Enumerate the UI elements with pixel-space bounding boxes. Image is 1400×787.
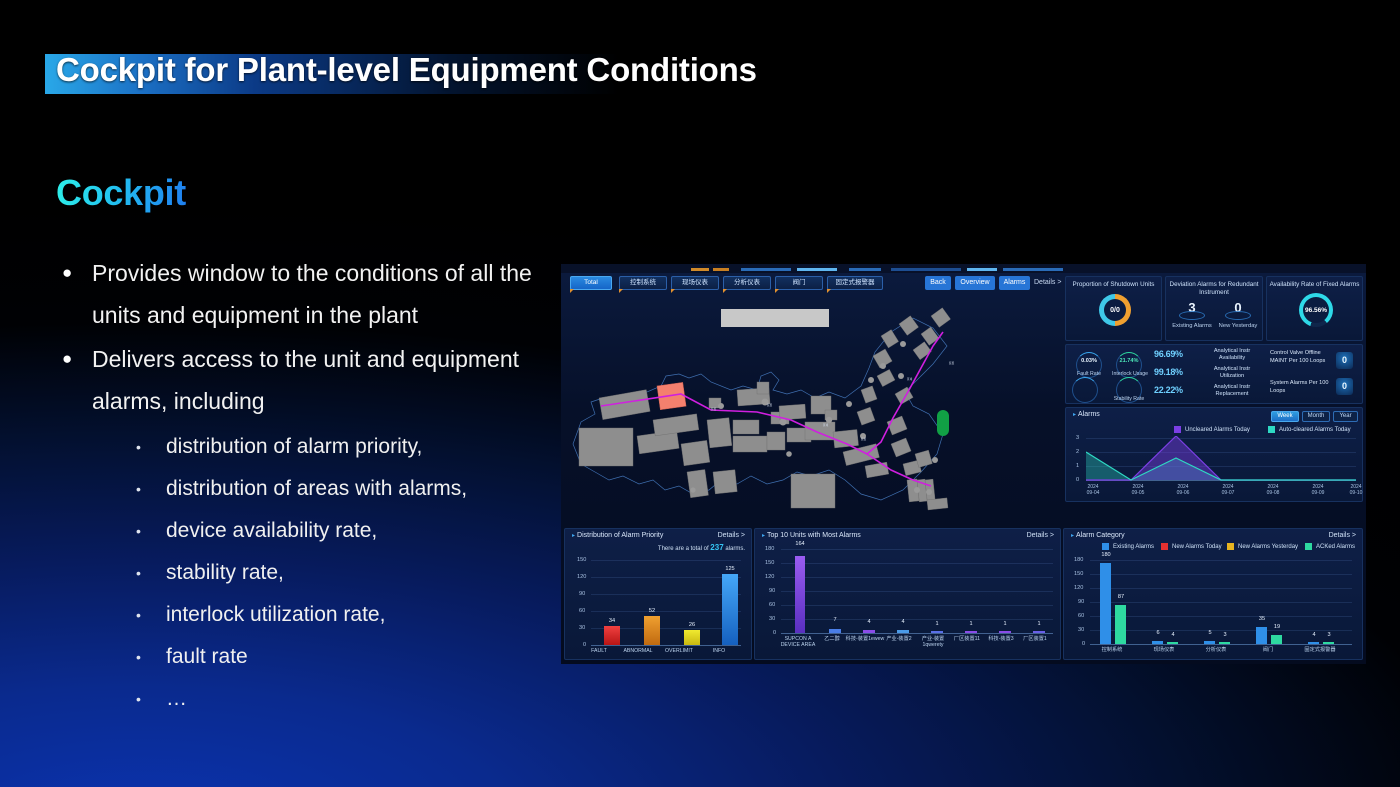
sub-bullet-text: device availability rate, bbox=[166, 510, 377, 552]
x-tick: 202409-07 bbox=[1209, 484, 1247, 496]
bullet-dot-icon: ● bbox=[56, 252, 92, 294]
bar-abnormal bbox=[644, 616, 660, 645]
alarms-trend-linechart bbox=[1086, 436, 1358, 482]
y-tick: 0 bbox=[1076, 477, 1079, 483]
analytical-replacement-value: 22.22% bbox=[1154, 385, 1183, 395]
bar-value: 34 bbox=[600, 618, 624, 624]
tab-label: 固定式报警器 bbox=[836, 279, 875, 286]
y-tick: 3 bbox=[1076, 435, 1079, 441]
back-button[interactable]: Back bbox=[925, 276, 951, 290]
card-alarms-trend: ▸Alarms Week Month Year Uncleared Alarms… bbox=[1065, 407, 1363, 502]
top-units-title: ▸Top 10 Units with Most Alarms bbox=[762, 532, 861, 539]
x-category: 现场仪表 bbox=[1144, 647, 1184, 653]
x-category: 控制系统 bbox=[1092, 647, 1132, 653]
slide-canvas: Cockpit for Plant-level Equipment Condit… bbox=[0, 0, 1400, 787]
legend-label: New Alarms Yesterday bbox=[1238, 544, 1298, 550]
card-deviation-alarms: Deviation Alarms for Redundant Instrumen… bbox=[1165, 276, 1263, 341]
bar-overlimit bbox=[684, 630, 700, 645]
y-tick: 150 bbox=[577, 557, 586, 563]
legend-swatch bbox=[1268, 426, 1275, 433]
tab-corner-icon bbox=[827, 289, 831, 293]
x-tick: 202409-05 bbox=[1119, 484, 1157, 496]
legend-label: New Alarms Today bbox=[1172, 544, 1222, 550]
tab-corner-icon bbox=[671, 289, 675, 293]
x-category: 阀门 bbox=[1248, 647, 1288, 653]
sub-bullet-item: • interlock utilization rate, bbox=[136, 594, 576, 636]
svg-text:区域: 区域 bbox=[823, 423, 829, 427]
top-units-barchart: 164 7 4 4 1 1 1 1 bbox=[781, 549, 1053, 633]
alarm-category-title: ▸Alarm Category bbox=[1071, 532, 1125, 539]
fault-rate-value: 0.03% bbox=[1072, 358, 1106, 364]
y-tick: 90 bbox=[769, 588, 775, 594]
bar-fault bbox=[604, 626, 620, 645]
bar-acked bbox=[1219, 642, 1230, 644]
bar-unit bbox=[999, 631, 1011, 633]
bar-value: 1 bbox=[925, 621, 949, 627]
dashboard-top-strip bbox=[561, 264, 1366, 273]
bar-unit bbox=[795, 556, 805, 633]
analytical-utilization-value: 99.18% bbox=[1154, 367, 1183, 377]
x-tick: 202409-06 bbox=[1164, 484, 1202, 496]
card-fixed-alarm-availability: Availability Rate of Fixed Alarms 96.56% bbox=[1266, 276, 1363, 341]
analytical-availability-label: Analytical Instr Availability bbox=[1202, 348, 1262, 362]
alarm-priority-title: ▸Distribution of Alarm Priority bbox=[572, 532, 663, 539]
card-alarm-category: ▸Alarm Category Details > Existing Alarm… bbox=[1063, 528, 1363, 660]
tab-corner-icon bbox=[570, 289, 574, 293]
bar-value: 164 bbox=[787, 541, 813, 547]
overview-button[interactable]: Overview bbox=[955, 276, 995, 290]
tab-field-instrument[interactable]: 现场仪表 bbox=[671, 276, 719, 290]
map-buildings bbox=[579, 308, 951, 510]
map-green-tank bbox=[937, 410, 949, 436]
legend-new-yesterday: New Alarms Yesterday bbox=[1227, 543, 1298, 550]
gauge-ring-icon bbox=[1072, 377, 1098, 403]
x-category: 分析仪表 bbox=[1196, 647, 1236, 653]
interlock-usage-value: 21.74% bbox=[1112, 358, 1146, 364]
tab-valve[interactable]: 阀门 bbox=[775, 276, 823, 290]
tab-corner-icon bbox=[723, 289, 727, 293]
bar-value: 1 bbox=[959, 621, 983, 627]
y-tick: 60 bbox=[769, 602, 775, 608]
bullet-dot-icon: ● bbox=[56, 338, 92, 380]
caret-icon: ▸ bbox=[572, 533, 575, 539]
bar-value: 26 bbox=[680, 622, 704, 628]
gauge-stability-rate: Stability Rate bbox=[1112, 373, 1146, 407]
svg-text:装置: 装置 bbox=[711, 407, 717, 411]
bar-value: 125 bbox=[718, 566, 742, 572]
shutdown-donut-chart: 0/0 bbox=[1099, 294, 1131, 326]
y-tick: 120 bbox=[577, 574, 586, 580]
line-autocleared bbox=[1086, 452, 1356, 480]
bullet-text: Delivers access to the unit and equipmen… bbox=[92, 338, 572, 422]
legend-swatch bbox=[1174, 426, 1181, 433]
x-category: 厂区装置1 bbox=[1015, 636, 1055, 642]
alarm-category-barchart: 180 87 6 4 5 3 35 19 4 3 bbox=[1090, 560, 1352, 644]
bar-unit bbox=[931, 631, 943, 633]
bar-value: 1 bbox=[1027, 621, 1051, 627]
range-month-button[interactable]: Month bbox=[1302, 411, 1330, 422]
y-tick: 120 bbox=[1074, 585, 1083, 591]
bullet-list: ● Provides window to the conditions of a… bbox=[56, 252, 576, 720]
bar-value: 180 bbox=[1095, 552, 1117, 558]
analytical-availability-value: 96.69% bbox=[1154, 349, 1183, 359]
fixed-alarms-value: 96.56% bbox=[1299, 293, 1333, 327]
sub-bullet-dot-icon: • bbox=[136, 552, 166, 594]
deviation-new: 0 New Yesterday bbox=[1215, 301, 1261, 329]
y-tick: 30 bbox=[769, 616, 775, 622]
bar-unit bbox=[897, 630, 909, 633]
tab-label: 控制系统 bbox=[630, 279, 656, 286]
bar-existing bbox=[1204, 641, 1215, 644]
legend-autocleared: Auto-cleared Alarms Today bbox=[1268, 426, 1351, 433]
bar-value: 4 bbox=[1162, 632, 1184, 638]
sub-bullet-item: • distribution of areas with alarms, bbox=[136, 468, 576, 510]
legend-swatch bbox=[1161, 543, 1168, 550]
tab-corner-icon bbox=[775, 289, 779, 293]
sub-bullet-dot-icon: • bbox=[136, 594, 166, 636]
sub-bullet-item: • fault rate bbox=[136, 636, 576, 678]
tab-analytical-instrument[interactable]: 分析仪表 bbox=[723, 276, 771, 290]
analytical-replacement-label: Analytical Instr Replacement bbox=[1202, 384, 1262, 398]
y-tick: 150 bbox=[765, 560, 774, 566]
alarm-priority-barchart: 34 52 26 125 bbox=[591, 560, 743, 645]
bar-value: 1 bbox=[993, 621, 1017, 627]
grid-line-base bbox=[781, 633, 1053, 634]
y-tick: 60 bbox=[579, 608, 585, 614]
fixed-alarms-title: Availability Rate of Fixed Alarms bbox=[1267, 281, 1362, 289]
gauge-auto-control-rate bbox=[1068, 373, 1102, 407]
stat-ring-icon bbox=[1225, 311, 1251, 320]
sub-bullet-dot-icon: • bbox=[136, 510, 166, 552]
svg-text:装置: 装置 bbox=[949, 361, 955, 365]
bullet-item: ● Provides window to the conditions of a… bbox=[56, 252, 576, 336]
slide-title-block: Cockpit for Plant-level Equipment Condit… bbox=[45, 46, 757, 94]
tab-fixed-alarm-device[interactable]: 固定式报警器 bbox=[827, 276, 883, 290]
deviation-title: Deviation Alarms for Redundant Instrumen… bbox=[1166, 281, 1262, 297]
sub-bullet-list: • distribution of alarm priority, • dist… bbox=[56, 426, 576, 720]
sub-bullet-item: • distribution of alarm priority, bbox=[136, 426, 576, 468]
y-tick: 90 bbox=[1078, 599, 1084, 605]
shutdown-value: 0/0 bbox=[1099, 294, 1131, 326]
bar-unit bbox=[829, 629, 841, 633]
stat-ring-icon bbox=[1179, 311, 1205, 320]
bar-value: 19 bbox=[1266, 624, 1288, 630]
shutdown-title: Proportion of Shutdown Units bbox=[1066, 281, 1161, 289]
bullet-text: Provides window to the conditions of all… bbox=[92, 252, 572, 336]
bar-info bbox=[722, 574, 738, 645]
bar-existing bbox=[1152, 641, 1163, 644]
page-title: Cockpit for Plant-level Equipment Condit… bbox=[45, 46, 757, 94]
tab-corner-icon bbox=[619, 289, 623, 293]
bar-existing bbox=[1308, 642, 1319, 644]
y-tick: 60 bbox=[1078, 613, 1084, 619]
x-tick: 202409-09 bbox=[1299, 484, 1337, 496]
legend-swatch bbox=[1305, 543, 1312, 550]
legend-new-today: New Alarms Today bbox=[1161, 543, 1222, 550]
deviation-new-label: New Yesterday bbox=[1215, 323, 1261, 329]
system-alarms-loops-value: 0 bbox=[1336, 378, 1353, 395]
alarm-category-details-link[interactable]: Details > bbox=[1329, 532, 1356, 539]
alarm-priority-details-link[interactable]: Details > bbox=[718, 532, 745, 539]
bar-acked bbox=[1167, 642, 1178, 644]
x-category: FAULT bbox=[582, 648, 616, 654]
caret-icon: ▸ bbox=[1073, 412, 1076, 418]
sub-bullet-text: interlock utilization rate, bbox=[166, 594, 385, 636]
sub-bullet-dot-icon: • bbox=[136, 636, 166, 678]
range-week-button[interactable]: Week bbox=[1271, 411, 1299, 422]
fixed-alarms-gauge: 96.56% bbox=[1299, 293, 1333, 327]
bar-acked bbox=[1271, 635, 1282, 644]
legend-uncleared: Uncleared Alarms Today bbox=[1174, 426, 1250, 433]
svg-text:装置: 装置 bbox=[861, 437, 867, 441]
bar-value: 3 bbox=[1214, 632, 1236, 638]
bar-existing bbox=[1100, 563, 1111, 644]
sub-bullet-dot-icon: • bbox=[136, 678, 166, 720]
legend-swatch bbox=[1227, 543, 1234, 550]
y-tick: 150 bbox=[1074, 571, 1083, 577]
y-tick: 90 bbox=[579, 591, 585, 597]
legend-label: ACKed Alarms bbox=[1316, 544, 1355, 550]
x-category: INFO bbox=[705, 648, 733, 654]
x-tick: 202409-04 bbox=[1074, 484, 1112, 496]
x-tick: 202409-08 bbox=[1254, 484, 1292, 496]
dashboard-screenshot: Total 控制系统 现场仪表 分析仪表 阀门 固定式报警器 bbox=[561, 264, 1366, 664]
sub-bullet-text: stability rate, bbox=[166, 552, 284, 594]
alarm-total-note: There are a total of 237 alarms. bbox=[658, 543, 745, 552]
card-shutdown-proportion: Proportion of Shutdown Units 0/0 bbox=[1065, 276, 1162, 341]
plant-layout-map[interactable]: 装置装置 区域装置 区域装置 bbox=[561, 294, 1061, 528]
y-tick: 0 bbox=[1082, 641, 1085, 647]
bar-value: 3 bbox=[1318, 632, 1340, 638]
tab-label: Total bbox=[584, 279, 598, 286]
stability-rate-label: Stability Rate bbox=[1112, 396, 1146, 402]
sub-bullet-text: distribution of alarm priority, bbox=[166, 426, 422, 468]
legend-swatch bbox=[1102, 543, 1109, 550]
line-uncleared bbox=[1086, 436, 1356, 480]
details-link[interactable]: Details > bbox=[1034, 276, 1061, 290]
card-metrics-strip: 0.03% Fault Rate 21.74% Interlock Usage … bbox=[1065, 344, 1363, 404]
alarms-trend-title: ▸Alarms bbox=[1073, 411, 1100, 418]
control-valve-loops-label: Control Valve Offline MAINT Per 100 Loop… bbox=[1270, 350, 1330, 365]
system-alarms-loops-label: System Alarms Per 100 Loops bbox=[1270, 380, 1330, 395]
alarms-button[interactable]: Alarms bbox=[999, 276, 1030, 290]
bar-acked bbox=[1323, 642, 1334, 644]
y-tick: 30 bbox=[579, 625, 585, 631]
grid-line-base bbox=[1090, 644, 1352, 645]
svg-text:区域: 区域 bbox=[907, 377, 913, 381]
sub-bullet-dot-icon: • bbox=[136, 468, 166, 510]
svg-text:装置: 装置 bbox=[767, 403, 773, 407]
alarm-total-value: 237 bbox=[710, 543, 723, 552]
analytical-utilization-label: Analytical Instr Utilization bbox=[1202, 366, 1262, 380]
y-tick: 2 bbox=[1076, 449, 1079, 455]
grid-line-base bbox=[591, 645, 741, 646]
legend-acked: ACKed Alarms bbox=[1305, 543, 1355, 550]
y-tick: 30 bbox=[1078, 627, 1084, 633]
bar-value: 4 bbox=[891, 619, 915, 625]
section-heading: Cockpit bbox=[56, 172, 186, 214]
tab-label: 分析仪表 bbox=[734, 279, 760, 286]
tab-label: 阀门 bbox=[793, 279, 806, 286]
bar-value: 4 bbox=[857, 619, 881, 625]
legend-label: Existing Alarms bbox=[1113, 544, 1154, 550]
y-tick: 180 bbox=[1074, 557, 1083, 563]
x-category: OVERLIMIT bbox=[660, 648, 698, 654]
x-category: 固定式报警器 bbox=[1296, 647, 1344, 653]
sub-bullet-text: distribution of areas with alarms, bbox=[166, 468, 467, 510]
bar-unit bbox=[965, 631, 977, 633]
top-units-details-link[interactable]: Details > bbox=[1027, 532, 1054, 539]
legend-label: Uncleared Alarms Today bbox=[1185, 427, 1250, 433]
tab-label: 现场仪表 bbox=[682, 279, 708, 286]
x-tick: 202409-10 bbox=[1337, 484, 1366, 496]
sub-bullet-item: • stability rate, bbox=[136, 552, 576, 594]
deviation-existing: 3 Existing Alarms bbox=[1169, 301, 1215, 329]
deviation-existing-label: Existing Alarms bbox=[1169, 323, 1215, 329]
map-tooltip-box bbox=[721, 309, 829, 327]
sub-bullet-text: fault rate bbox=[166, 636, 248, 678]
y-tick: 1 bbox=[1076, 463, 1079, 469]
card-top-units: ▸Top 10 Units with Most Alarms Details >… bbox=[754, 528, 1061, 660]
tab-control-system[interactable]: 控制系统 bbox=[619, 276, 667, 290]
bar-value: 35 bbox=[1251, 616, 1273, 622]
bar-value: 87 bbox=[1110, 594, 1132, 600]
caret-icon: ▸ bbox=[762, 533, 765, 539]
card-alarm-priority: ▸Distribution of Alarm Priority Details … bbox=[564, 528, 752, 660]
tab-total[interactable]: Total bbox=[570, 276, 612, 290]
x-category: SUPCON A DEVICE AREA bbox=[778, 636, 818, 648]
bar-acked bbox=[1115, 605, 1126, 644]
control-valve-loops-value: 0 bbox=[1336, 352, 1353, 369]
bar-value: 52 bbox=[640, 608, 664, 614]
bar-unit bbox=[863, 630, 875, 633]
sub-bullet-item: • … bbox=[136, 678, 576, 720]
legend-existing: Existing Alarms bbox=[1102, 543, 1154, 550]
caret-icon: ▸ bbox=[1071, 533, 1074, 539]
y-tick: 180 bbox=[765, 546, 774, 552]
sub-bullet-text: … bbox=[166, 678, 187, 720]
bar-unit bbox=[1033, 631, 1045, 633]
range-year-button[interactable]: Year bbox=[1333, 411, 1358, 422]
x-category: ABNORMAL bbox=[619, 648, 657, 654]
legend-label: Auto-cleared Alarms Today bbox=[1279, 427, 1351, 433]
y-tick: 120 bbox=[765, 574, 774, 580]
sub-bullet-dot-icon: • bbox=[136, 426, 166, 468]
bullet-item: ● Delivers access to the unit and equipm… bbox=[56, 338, 576, 422]
bar-value: 7 bbox=[823, 617, 847, 623]
y-tick: 0 bbox=[773, 630, 776, 636]
sub-bullet-item: • device availability rate, bbox=[136, 510, 576, 552]
